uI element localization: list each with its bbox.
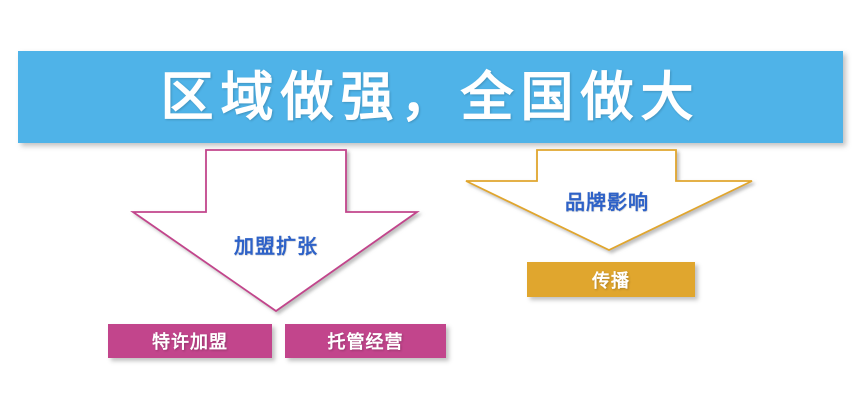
node-box-franchise[interactable]: 特许加盟 bbox=[108, 324, 272, 358]
node-box-spread[interactable]: 传播 bbox=[527, 262, 695, 297]
arrow-caption-franchise-expansion: 加盟扩张 bbox=[206, 230, 346, 259]
title-banner: 区域做强，全国做大 bbox=[18, 51, 843, 143]
page-title: 区域做强，全国做大 bbox=[161, 71, 701, 124]
slide-canvas: 区域做强，全国做大 加盟扩张 品牌影响 特许加盟 托管经营 传播 bbox=[0, 0, 865, 406]
arrow-caption-brand-influence: 品牌影响 bbox=[537, 186, 677, 215]
node-label-franchise: 特许加盟 bbox=[152, 328, 228, 354]
node-label-trustee: 托管经营 bbox=[328, 328, 404, 354]
node-box-trustee[interactable]: 托管经营 bbox=[285, 324, 446, 358]
node-label-spread: 传播 bbox=[592, 267, 630, 293]
